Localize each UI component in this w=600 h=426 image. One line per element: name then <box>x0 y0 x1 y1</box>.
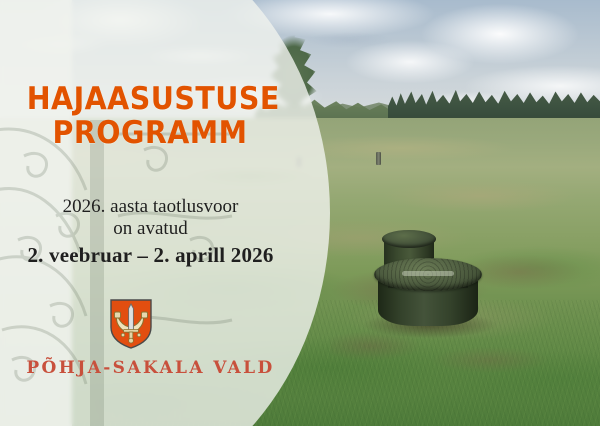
headline-line-2: PROGRAMM <box>27 116 274 150</box>
field-marker-post <box>376 152 381 165</box>
tank-front-lid <box>374 258 482 291</box>
septic-tank-lid-front <box>374 258 482 330</box>
tank-back-lid <box>382 230 436 248</box>
municipality-wordmark: PÕHJA-SAKALA VALD <box>8 358 293 378</box>
text-panel: HAJAASUSTUSE PROGRAMM 2026. aasta taotlu… <box>0 0 300 426</box>
headline-line-1: HAJAASUSTUSE <box>27 82 274 116</box>
poster-canvas: HAJAASUSTUSE PROGRAMM 2026. aasta taotlu… <box>0 0 600 426</box>
announcement-line-2: on avatud <box>8 218 293 240</box>
announcement-text: 2026. aasta taotlusvoor on avatud 2. vee… <box>8 196 293 268</box>
application-period: 2. veebruar – 2. aprill 2026 <box>8 243 293 268</box>
announcement-line-1: 2026. aasta taotlusvoor <box>8 196 293 218</box>
page-title: HAJAASUSTUSE PROGRAMM <box>27 82 274 150</box>
coat-of-arms-shield <box>110 299 152 349</box>
